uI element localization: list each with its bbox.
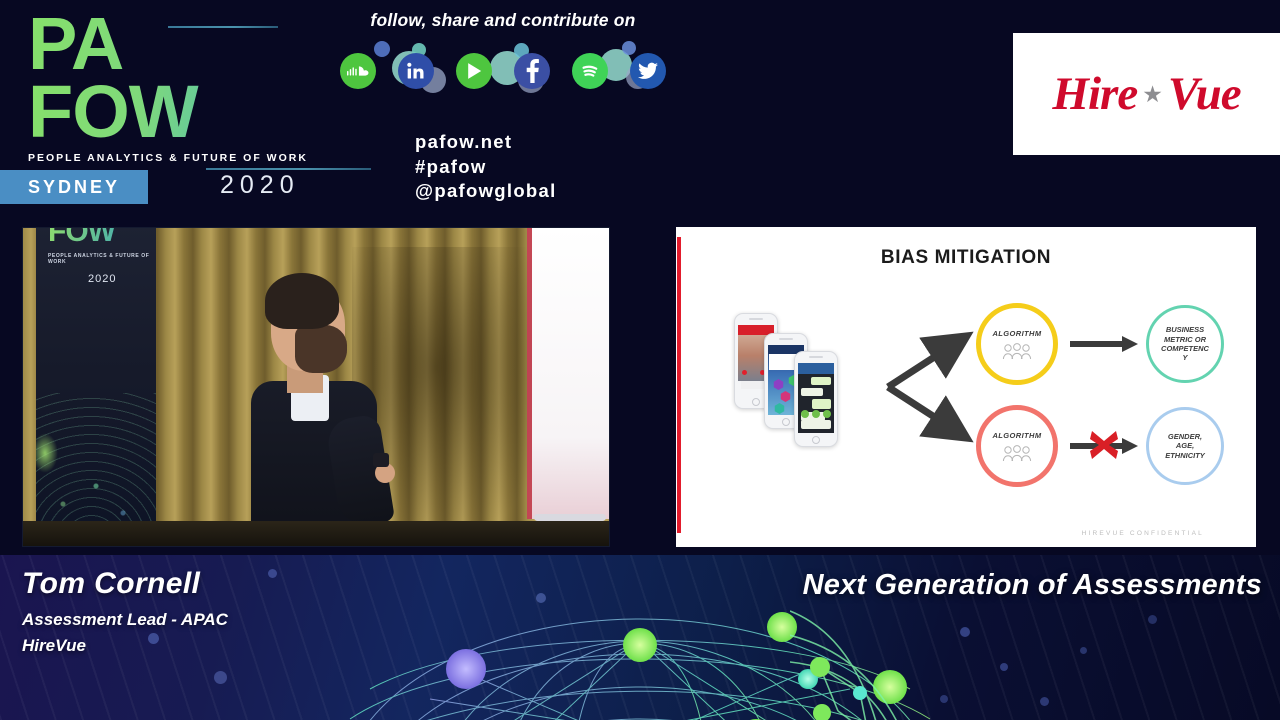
split-arrow-icon (884, 327, 976, 447)
twitter-icon[interactable] (630, 53, 666, 89)
chat-action-icon (823, 410, 831, 418)
presentation-slide: BIAS MITIGATION (676, 227, 1256, 547)
network-detail-graphic (790, 601, 1020, 720)
sponsor-name-part2: Vue (1168, 67, 1241, 121)
event-location-row: SYDNEY 2020 (0, 170, 358, 204)
phone-home-button (812, 436, 820, 444)
speaker-hair (265, 273, 339, 329)
event-social-handle: @pafowglobal (415, 179, 557, 204)
sponsor-name-part1: Hire (1052, 67, 1137, 121)
output-node-demographics: GENDER, AGE, ETHNICITY (1146, 407, 1224, 485)
phone-home-button (782, 418, 790, 426)
phone-speaker (779, 338, 793, 340)
pafow-tagline: PEOPLE ANALYTICS & FUTURE OF WORK (28, 152, 358, 164)
bokeh-dot (214, 671, 227, 684)
phone-speaker (749, 318, 763, 320)
city-badge: SYDNEY (0, 170, 148, 204)
algorithm-node-top: ALGORITHM (976, 303, 1058, 385)
bokeh-dot (268, 569, 277, 578)
presenter-info: Tom Cornell Assessment Lead - APAC HireV… (22, 567, 228, 656)
linkedin-icon[interactable] (398, 53, 434, 89)
phone-chat-app (794, 351, 838, 447)
people-icon (1002, 343, 1032, 359)
spotify-icon[interactable] (572, 53, 608, 89)
city-badge-label: SYDNEY (28, 177, 120, 198)
people-icon (1002, 445, 1032, 461)
pafow-logo-line1: PA (28, 10, 358, 78)
algorithm-node-bottom: ALGORITHM (976, 405, 1058, 487)
algorithm-top-label: ALGORITHM (992, 329, 1041, 338)
social-heading: follow, share and contribute on (338, 10, 668, 31)
star-icon: ★ (1142, 83, 1163, 106)
output-top-line1: BUSINESS (1166, 325, 1204, 334)
bokeh-dot (1148, 615, 1157, 624)
banner-logo: FOW (48, 227, 115, 249)
soundcloud-icon[interactable] (340, 53, 376, 89)
slide-confidential-footer: HIREVUE CONFIDENTIAL (1082, 530, 1204, 537)
lower-title-band: Tom Cornell Assessment Lead - APAC HireV… (0, 555, 1280, 720)
pafow-logo-line2: FOW (28, 78, 358, 146)
presenter-organization: HireVue (22, 636, 228, 656)
chat-bubble (812, 399, 831, 409)
social-block: follow, share and contribute on (338, 10, 668, 97)
event-hashtag: #pafow (415, 155, 557, 180)
cross-mark-icon (1086, 427, 1122, 463)
decor-blob (622, 41, 636, 55)
output-bottom-line1: GENDER, (1168, 432, 1202, 441)
sponsor-logo: Hire ★ Vue (1013, 33, 1280, 155)
chat-bubble (801, 420, 831, 429)
speaker-beard (295, 325, 347, 373)
output-bottom-line3: ETHNICITY (1165, 451, 1205, 460)
record-dot-icon (742, 370, 747, 375)
youtube-play-icon[interactable] (456, 53, 492, 89)
chat-action-icon (801, 410, 809, 418)
phone-speaker (809, 356, 823, 358)
bokeh-dot (1000, 663, 1008, 671)
speaker-figure (247, 267, 397, 547)
speaker-video-panel: FOW PEOPLE ANALYTICS & FUTURE OF WORK 20… (22, 227, 610, 547)
stage-rail (534, 514, 606, 521)
event-handles: pafow.net #pafow @pafowglobal (415, 130, 557, 204)
phone-home-button (752, 398, 760, 406)
logo-rule-top (168, 26, 278, 28)
presentation-clicker (373, 453, 389, 467)
event-year: 2020 (220, 171, 300, 200)
phone-app-header (798, 363, 834, 374)
facebook-icon[interactable] (514, 53, 550, 89)
decor-blob (374, 41, 390, 57)
bokeh-dot (940, 695, 948, 703)
event-banner: FOW PEOPLE ANALYTICS & FUTURE OF WORK 20… (36, 227, 156, 525)
slide-title: BIAS MITIGATION (676, 247, 1256, 269)
output-node-business-metric: BUSINESS METRIC OR COMPETENC Y (1146, 305, 1224, 383)
event-website: pafow.net (415, 130, 557, 155)
bokeh-dot (1080, 647, 1087, 654)
stage-floor (22, 521, 610, 547)
algorithm-bottom-label: ALGORITHM (992, 431, 1041, 440)
pafow-logo: PA FOW PEOPLE ANALYTICS & FUTURE OF WORK… (28, 10, 358, 210)
banner-tagline: PEOPLE ANALYTICS & FUTURE OF WORK (48, 253, 156, 265)
output-top-line2: METRIC OR (1164, 335, 1206, 344)
projection-screen (532, 227, 610, 519)
chat-action-buttons (801, 410, 831, 419)
bokeh-dot (536, 593, 546, 603)
output-top-line3: COMPETENC (1161, 344, 1209, 353)
chat-bubble (811, 377, 831, 385)
phone-screen (798, 363, 834, 433)
arrow-to-business-metric-icon (1068, 333, 1140, 355)
broadcast-stage: PA FOW PEOPLE ANALYTICS & FUTURE OF WORK… (0, 0, 1280, 720)
chat-bubble (801, 388, 823, 396)
banner-year: 2020 (88, 273, 116, 285)
output-top-line4: Y (1182, 353, 1187, 362)
bokeh-dot (1040, 697, 1049, 706)
presenter-name: Tom Cornell (22, 567, 228, 601)
social-icon-row (338, 45, 668, 97)
phone-mockups (734, 307, 884, 467)
bokeh-dot (960, 627, 970, 637)
session-title: Next Generation of Assessments (803, 569, 1262, 602)
banner-glow (36, 433, 58, 473)
bias-mitigation-diagram: ALGORITHM ALGORITHM (676, 287, 1256, 517)
output-bottom-line2: AGE, (1176, 441, 1194, 450)
chat-action-icon (812, 410, 820, 418)
presenter-role: Assessment Lead - APAC (22, 610, 228, 630)
